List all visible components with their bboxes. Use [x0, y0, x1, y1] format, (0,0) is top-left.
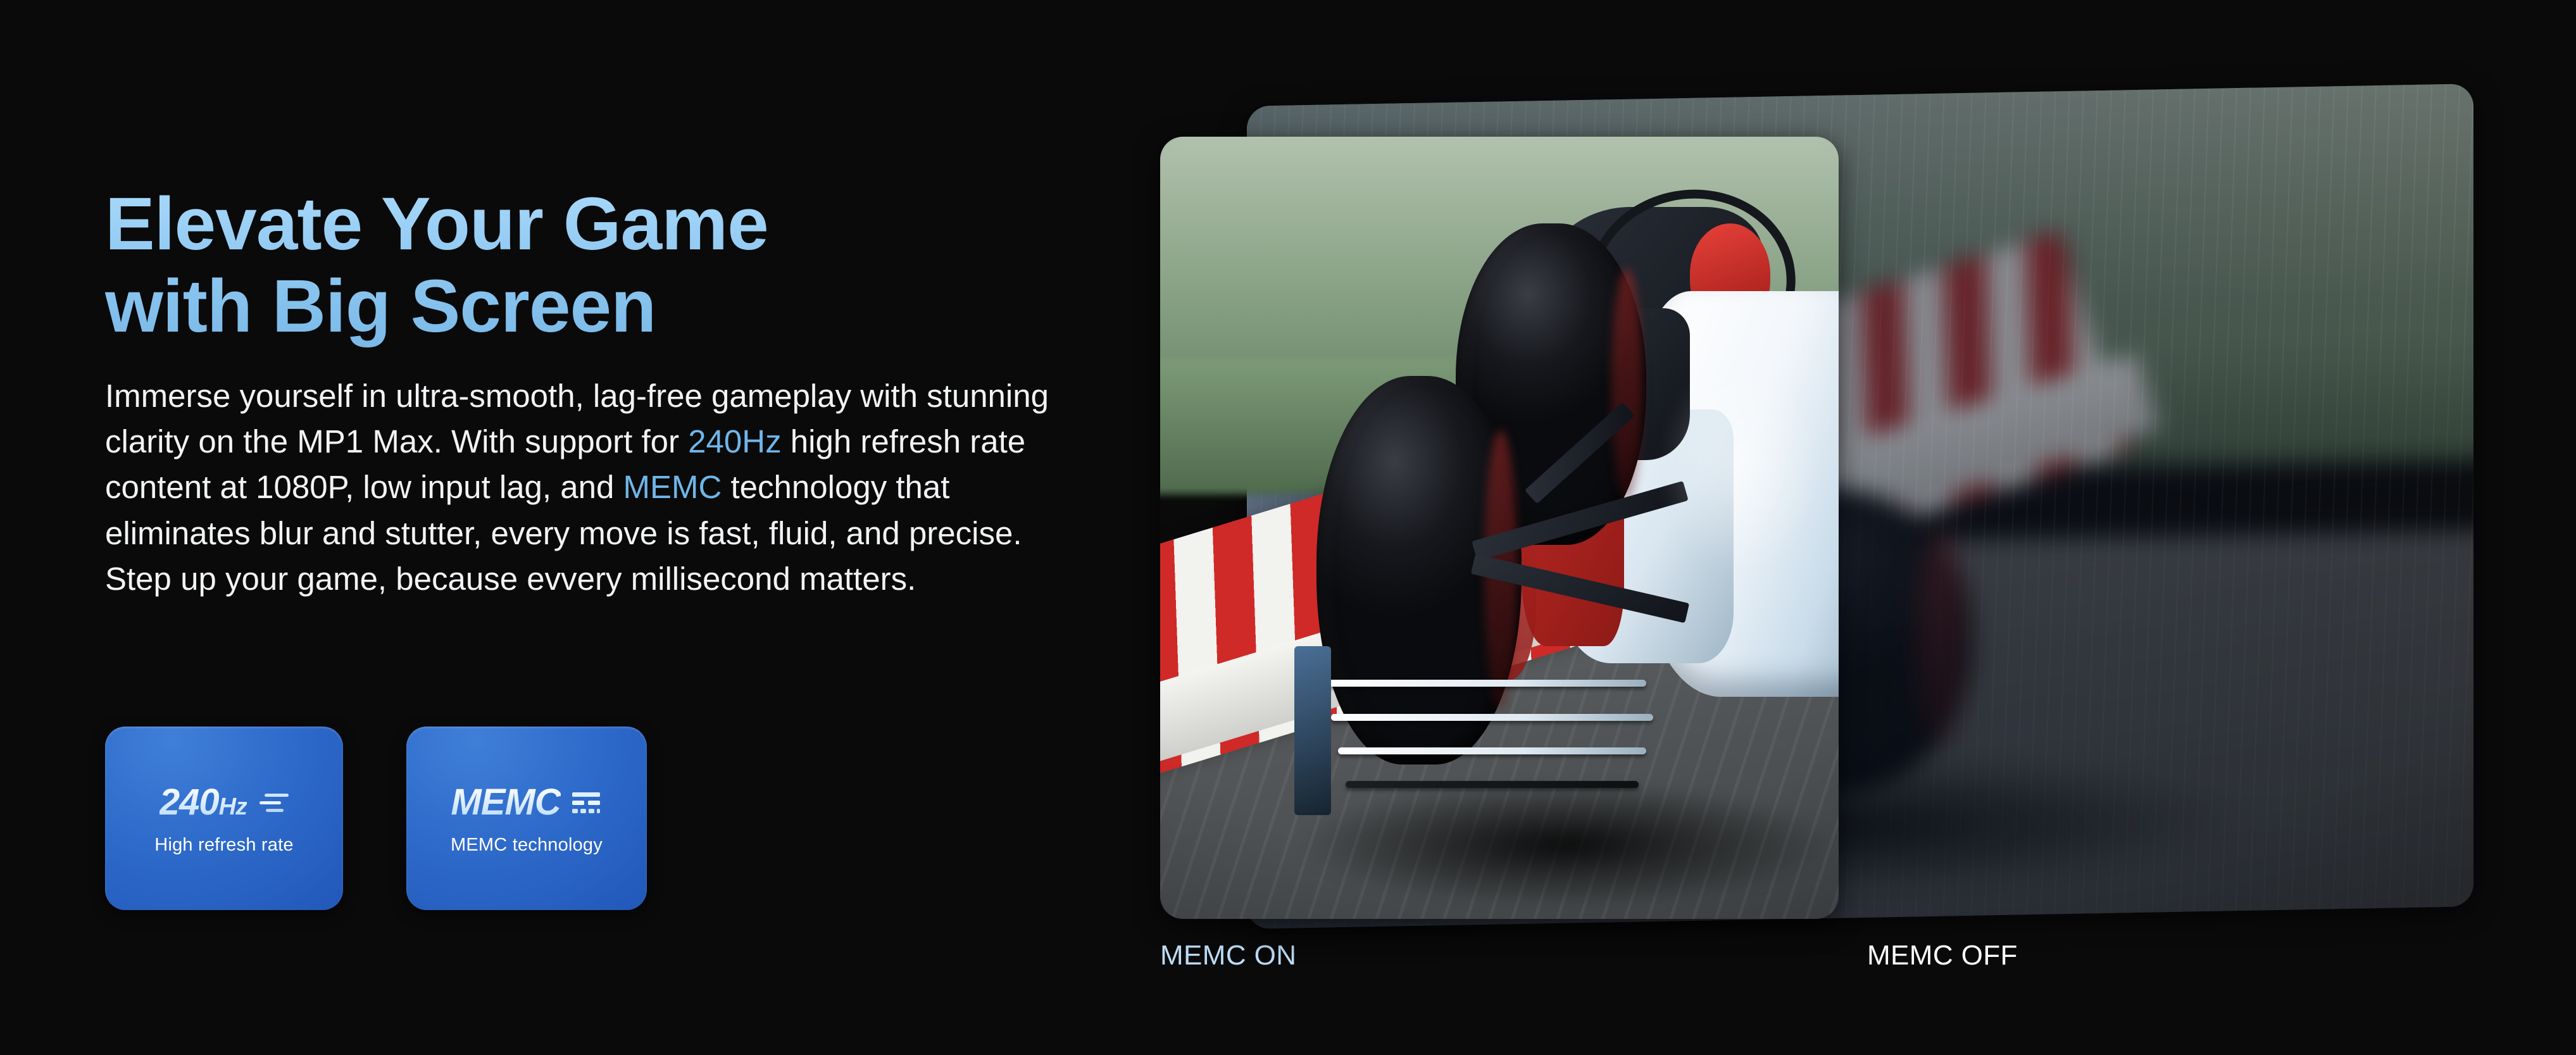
panel-memc-on-image: [1160, 137, 1839, 919]
page-title: Elevate Your Game with Big Screen: [105, 184, 1092, 348]
motion-frames-icon: [567, 789, 603, 816]
feature-badge-group: 240Hz High refresh rate MEMC: [105, 727, 647, 910]
highlight-memc: MEMC: [623, 469, 722, 505]
memc-comparison-panels: [1160, 95, 2473, 921]
speed-lines-icon: [253, 789, 289, 816]
badge-kpi-value: MEMC: [451, 784, 560, 821]
badge-kpi-unit: Hz: [219, 794, 247, 820]
badge-memc-technology[interactable]: MEMC MEMC technology: [406, 727, 647, 910]
race-scene-sharp: [1160, 137, 1839, 919]
badge-sub-label: MEMC technology: [451, 835, 603, 856]
badge-kpi-number: 240: [159, 782, 219, 823]
gaming-feature-hero-section: Elevate Your Game with Big Screen Immers…: [0, 0, 2576, 1055]
panel-caption-row: MEMC ON MEMC OFF: [1160, 940, 2473, 984]
badge-kpi-row: 240Hz: [159, 779, 289, 826]
copy-column: Elevate Your Game with Big Screen Immers…: [105, 184, 1092, 602]
badge-kpi-row: MEMC: [451, 779, 602, 826]
caption-memc-on: MEMC ON: [1160, 940, 1296, 971]
body-description: Immerse yourself in ultra-smooth, lag-fr…: [105, 373, 1054, 602]
badge-kpi-value: 240Hz: [159, 784, 247, 821]
badge-sub-label: High refresh rate: [154, 835, 293, 856]
highlight-refresh-rate: 240Hz: [688, 423, 781, 459]
badge-high-refresh-rate[interactable]: 240Hz High refresh rate: [105, 727, 343, 910]
caption-memc-off: MEMC OFF: [1867, 940, 2018, 971]
